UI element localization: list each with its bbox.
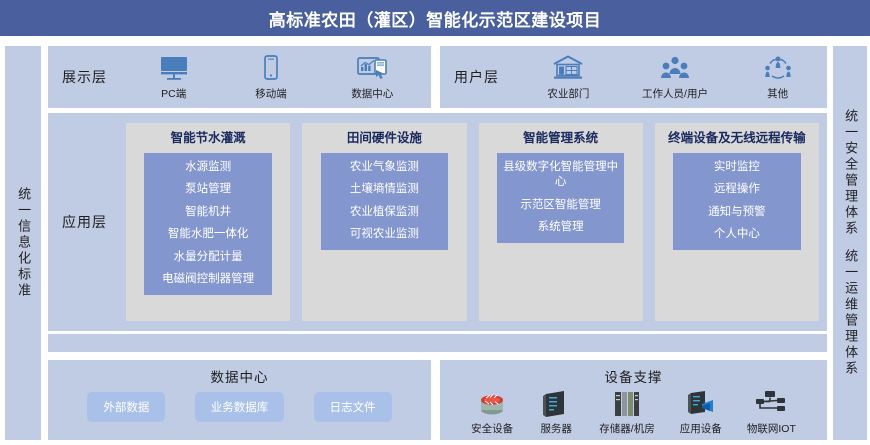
app-card-item[interactable]: 远程操作 (677, 180, 796, 200)
left-rail-unified-informatization-standard: 统一信息化标准 (5, 46, 41, 440)
display-item-pc-label: PC端 (161, 86, 186, 101)
app-card-title: 田间硬件设施 (347, 131, 422, 147)
user-item-other-label: 其他 (767, 86, 788, 101)
people-group-icon (658, 54, 692, 84)
user-layer-panel: 用户层 农业部门 工作人员/用户 (440, 46, 827, 108)
app-card-terminal-wireless[interactable]: 终端设备及无线远程传输 实时监控 远程操作 通知与预警 个人中心 (655, 123, 819, 321)
app-card-item[interactable]: 土壤墒情监测 (325, 180, 444, 200)
device-item-storage[interactable]: 存储器/机房 (599, 388, 654, 436)
device-item-iot-label: 物联网IOT (747, 421, 796, 436)
app-card-item[interactable]: 农业气象监测 (325, 158, 444, 178)
display-item-data-center-label: 数据中心 (351, 86, 393, 101)
user-item-staff-label: 工作人员/用户 (642, 86, 708, 101)
page-title-bar: 高标准农田（灌区）智能化示范区建设项目 (0, 0, 870, 36)
device-item-storage-label: 存储器/机房 (599, 421, 654, 436)
page-title: 高标准农田（灌区）智能化示范区建设项目 (269, 6, 602, 31)
app-card-item[interactable]: 个人中心 (677, 225, 796, 245)
app-card-item[interactable]: 智能水肥一体化 (148, 225, 267, 245)
app-card-item[interactable]: 水量分配计量 (148, 248, 267, 268)
app-card-items: 实时监控 远程操作 通知与预警 个人中心 (673, 153, 800, 250)
app-card-item[interactable]: 示范区智能管理 (501, 196, 620, 216)
device-item-security[interactable]: 安全设备 (471, 388, 513, 436)
display-layer-label: 展示层 (62, 67, 107, 87)
monitor-icon (157, 54, 191, 84)
data-center-chips: 外部数据 业务数据库 日志文件 (48, 386, 431, 422)
app-card-items: 县级数字化智能管理中心 示范区智能管理 系统管理 (497, 153, 624, 243)
app-card-title: 终端设备及无线远程传输 (668, 131, 806, 147)
app-card-items: 水源监测 泵站管理 智能机井 智能水肥一体化 水量分配计量 电磁阀控制器管理 (144, 153, 271, 295)
display-item-mobile-label: 移动端 (255, 86, 287, 101)
device-item-server-label: 服务器 (540, 421, 572, 436)
device-item-iot[interactable]: 物联网IOT (747, 388, 796, 436)
server-icon (538, 388, 574, 420)
app-card-item[interactable]: 农业植保监测 (325, 203, 444, 223)
user-item-agriculture-dept-label: 农业部门 (547, 86, 589, 101)
user-layer-label: 用户层 (454, 67, 499, 87)
layer-divider-bar (48, 334, 827, 352)
data-center-panel: 数据中心 外部数据 业务数据库 日志文件 (48, 360, 431, 440)
application-layer-panel: 应用层 智能节水灌溉 水源监测 泵站管理 智能机井 智能水肥一体化 水量分配计量… (48, 113, 827, 331)
app-card-item[interactable]: 通知与预警 (677, 203, 796, 223)
app-card-smart-irrigation[interactable]: 智能节水灌溉 水源监测 泵站管理 智能机井 智能水肥一体化 水量分配计量 电磁阀… (126, 123, 290, 321)
application-layer-label: 应用层 (62, 212, 107, 232)
user-layer-icons: 农业部门 工作人员/用户 (521, 46, 821, 108)
left-rail-label: 统一信息化标准 (16, 187, 30, 299)
user-item-staff[interactable]: 工作人员/用户 (642, 54, 708, 101)
building-icon (551, 54, 585, 84)
display-item-pc[interactable]: PC端 (157, 54, 191, 101)
app-card-title: 智能管理系统 (523, 131, 598, 147)
mobile-icon (254, 54, 288, 84)
display-item-data-center[interactable]: 数据中心 (351, 54, 393, 101)
device-item-application-label: 应用设备 (680, 421, 722, 436)
user-item-other[interactable]: 其他 (761, 54, 795, 101)
device-item-security-label: 安全设备 (471, 421, 513, 436)
people-cycle-icon (761, 54, 795, 84)
data-center-chip-log-files[interactable]: 日志文件 (314, 392, 392, 422)
application-device-icon (683, 388, 719, 420)
right-rail-label-operations: 统一运维管理体系 (843, 249, 857, 377)
user-item-agriculture-dept[interactable]: 农业部门 (547, 54, 589, 101)
app-card-item[interactable]: 可视农业监测 (325, 225, 444, 245)
device-support-panel: 设备支撑 安全设备 服务器 (440, 360, 827, 440)
display-layer-icons: PC端 移动端 数据中心 (125, 46, 425, 108)
app-card-item[interactable]: 电磁阀控制器管理 (148, 270, 267, 290)
app-card-item[interactable]: 实时监控 (677, 158, 796, 178)
app-card-item[interactable]: 水源监测 (148, 158, 267, 178)
data-center-chip-business-db[interactable]: 业务数据库 (195, 392, 285, 422)
app-card-item[interactable]: 泵站管理 (148, 180, 267, 200)
data-center-chip-external[interactable]: 外部数据 (87, 392, 165, 422)
right-rail-label-security: 统一安全管理体系 (843, 109, 857, 237)
app-card-item[interactable]: 系统管理 (501, 218, 620, 238)
device-item-application[interactable]: 应用设备 (680, 388, 722, 436)
device-support-items: 安全设备 服务器 存储器 (440, 386, 827, 436)
app-card-item[interactable]: 县级数字化智能管理中心 (501, 158, 620, 193)
app-card-item[interactable]: 智能机井 (148, 203, 267, 223)
display-layer-panel: 展示层 PC端 移动端 (48, 46, 431, 108)
router-security-icon (474, 388, 510, 420)
iot-network-icon (753, 388, 789, 420)
data-center-tablet-icon (355, 54, 389, 84)
storage-rack-icon (609, 388, 645, 420)
data-center-title: 数据中心 (48, 360, 431, 386)
app-card-smart-management-system[interactable]: 智能管理系统 县级数字化智能管理中心 示范区智能管理 系统管理 (479, 123, 643, 321)
application-layer-cards: 智能节水灌溉 水源监测 泵站管理 智能机井 智能水肥一体化 水量分配计量 电磁阀… (126, 123, 819, 321)
device-support-title: 设备支撑 (440, 360, 827, 386)
right-rail-management-systems: 统一安全管理体系 统一运维管理体系 (833, 46, 867, 440)
app-card-items: 农业气象监测 土壤墒情监测 农业植保监测 可视农业监测 (321, 153, 448, 250)
device-item-server[interactable]: 服务器 (538, 388, 574, 436)
app-card-title: 智能节水灌溉 (171, 131, 246, 147)
app-card-field-hardware[interactable]: 田间硬件设施 农业气象监测 土壤墒情监测 农业植保监测 可视农业监测 (302, 123, 466, 321)
display-item-mobile[interactable]: 移动端 (254, 54, 288, 101)
